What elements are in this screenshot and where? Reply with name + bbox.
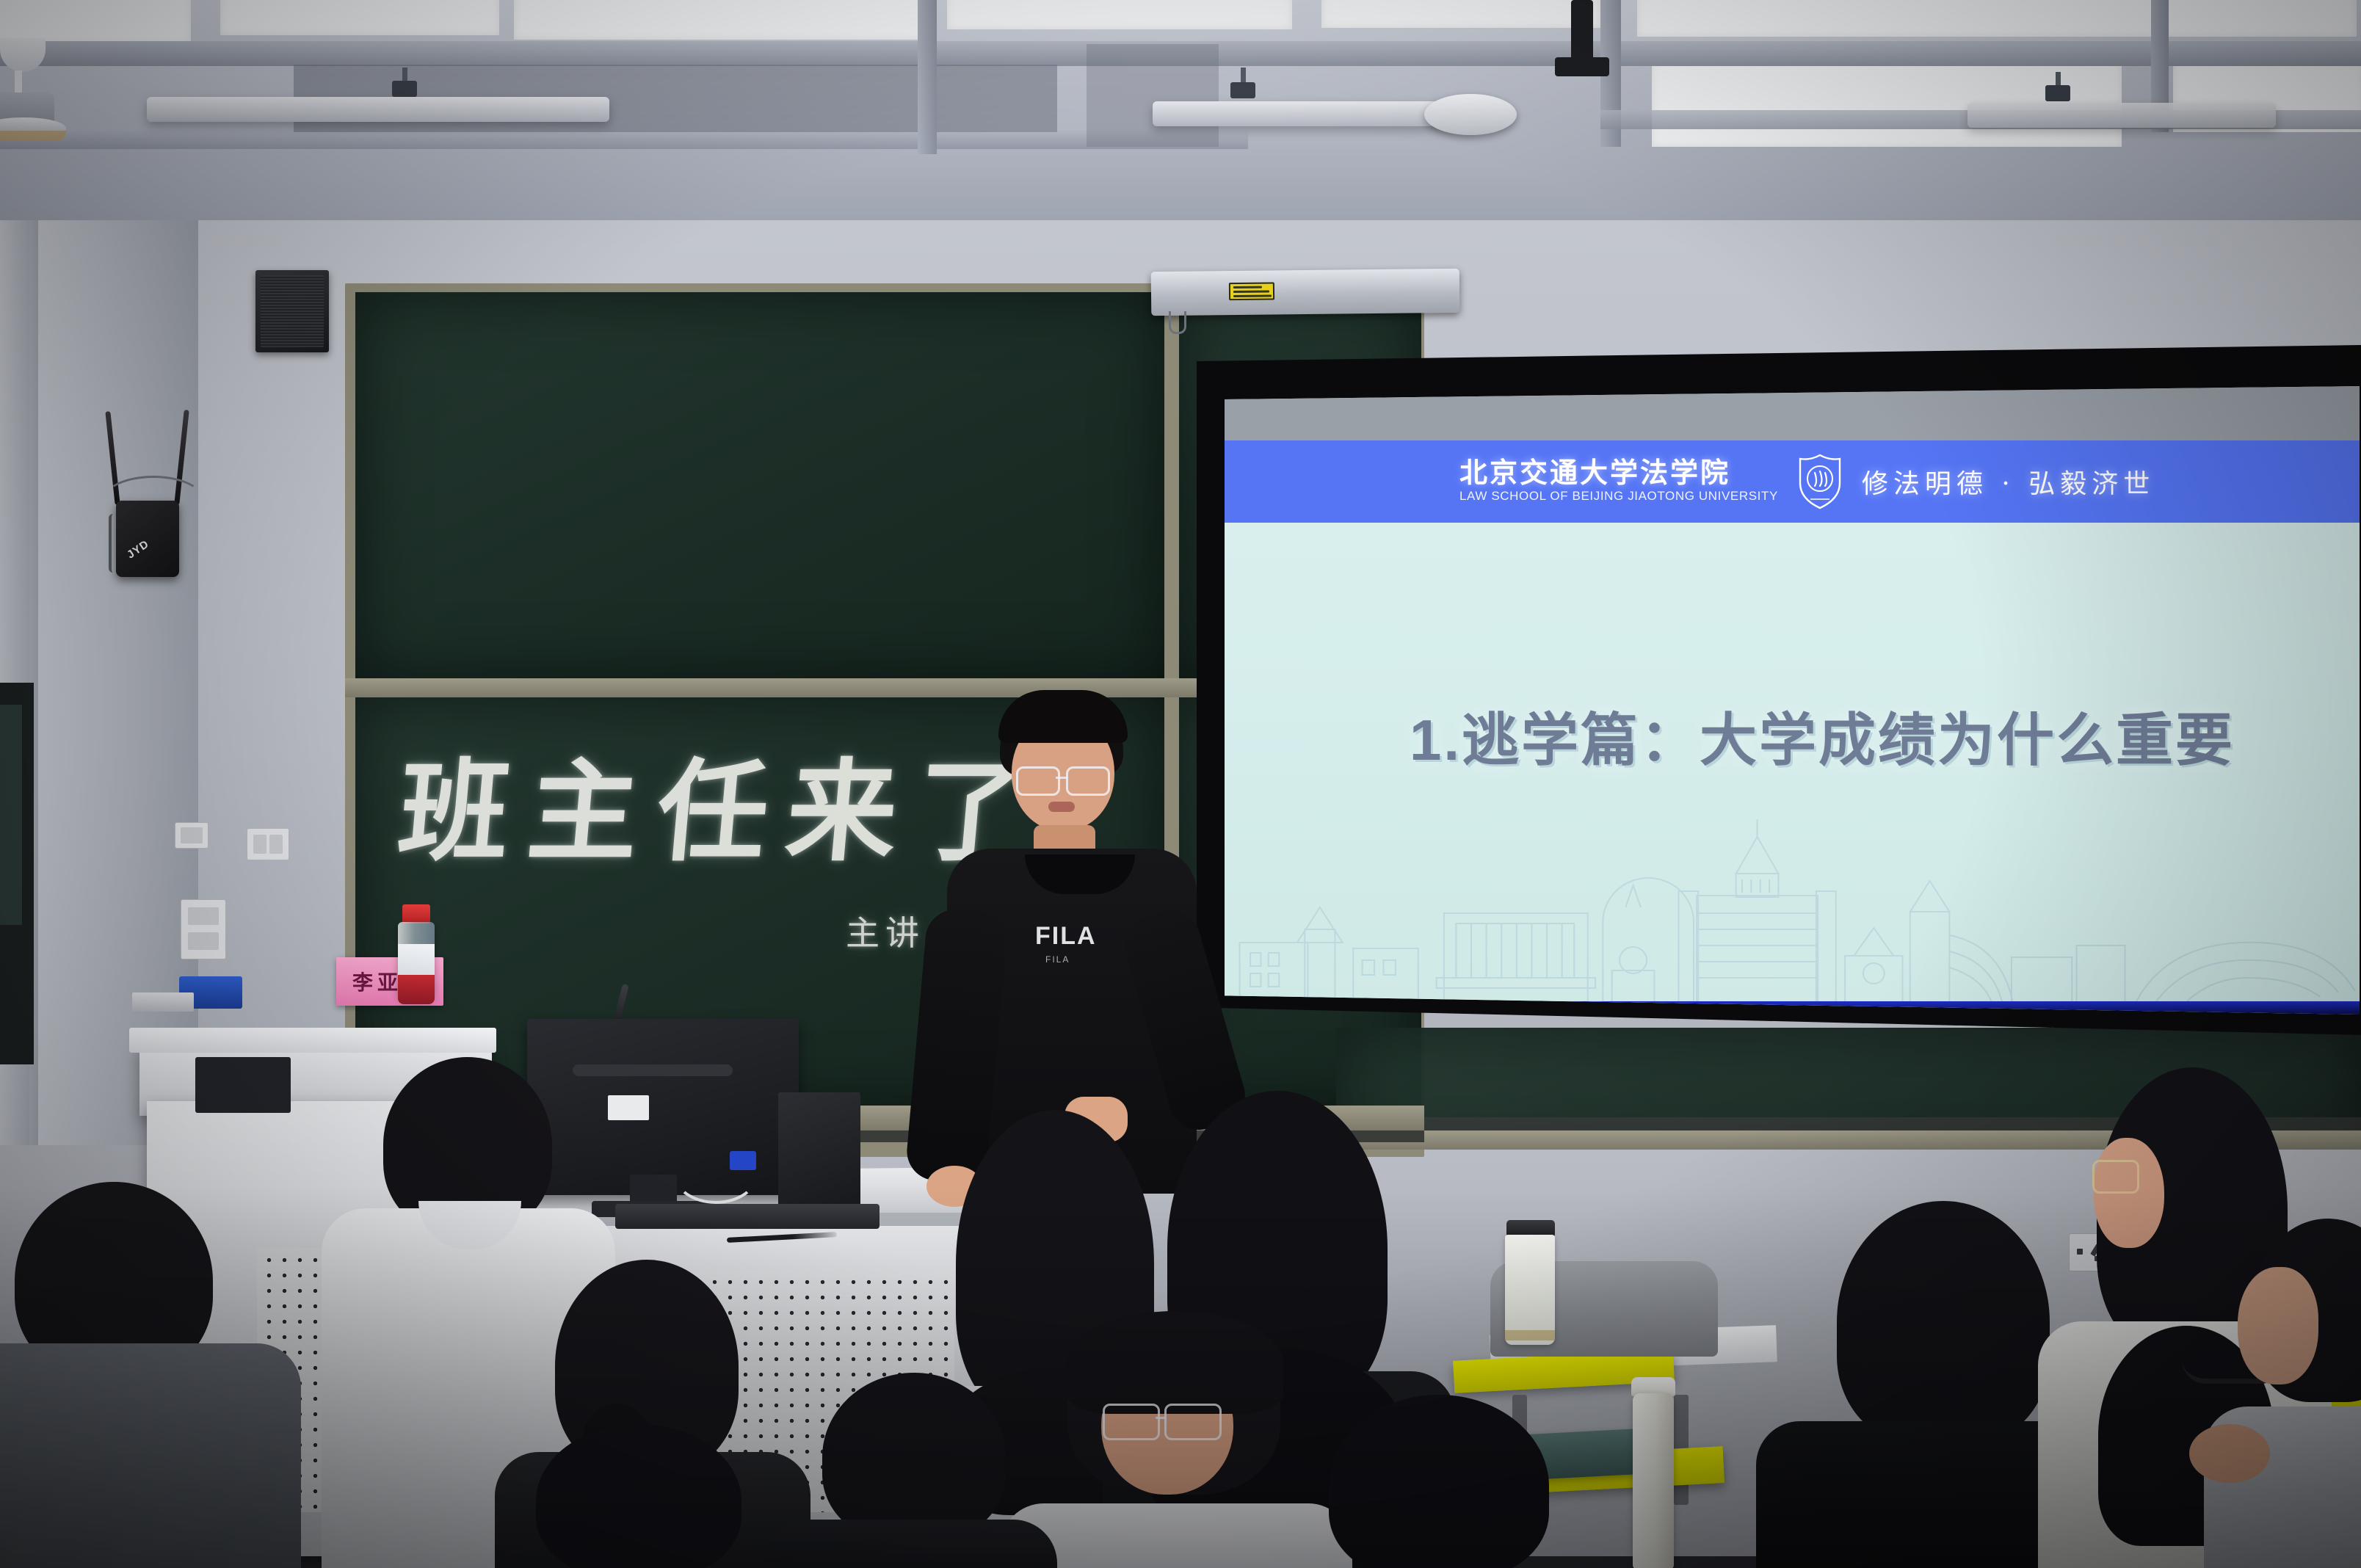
smoke-detector — [1424, 94, 1517, 135]
light-clip — [1230, 82, 1255, 98]
projection-screen-housing[interactable] — [1151, 269, 1460, 316]
router-brand-label: JYD — [125, 537, 151, 561]
glasses-left-lens-icon — [1016, 766, 1060, 796]
ceiling-light-panel — [947, 0, 1292, 29]
control-panel-plate — [181, 899, 226, 959]
ceiling-light-panel — [1321, 0, 1600, 28]
student-front-left-4 — [778, 1373, 1042, 1568]
speaker-grill — [261, 275, 324, 347]
student-hair-top — [1066, 1311, 1283, 1414]
student-top — [0, 1343, 301, 1568]
grey-device-box — [132, 992, 194, 1012]
ceiling-light-panel — [514, 0, 925, 40]
light-clip — [2045, 85, 2070, 101]
slide-header-brand: 北京交通大学法学院 LAW SCHOOL OF BEIJING JIAOTONG… — [1459, 454, 2155, 509]
thermos — [1633, 1393, 1674, 1568]
institution-name-cn: 北京交通大学法学院 — [1459, 460, 1778, 489]
coffee-cup — [1505, 1235, 1555, 1345]
slide-title: 1.逃学篇：大学成绩为什么重要 — [1410, 694, 2235, 777]
chalkboard-upper-panel — [355, 292, 1164, 681]
ceiling-light-panel — [220, 0, 499, 35]
student-hair — [822, 1373, 1006, 1542]
bottle-label — [398, 944, 435, 975]
glasses-left-lens-icon — [1103, 1404, 1160, 1440]
city-skyline-watermark — [1225, 819, 2360, 1003]
presenter-hair-top — [998, 690, 1128, 743]
router-power-cable — [109, 514, 122, 573]
ceiling-fan-blade — [0, 131, 66, 141]
light-clip — [392, 81, 417, 97]
presenter-mouth — [1048, 802, 1075, 812]
wall-speaker — [255, 270, 329, 352]
student-front-left-5 — [485, 1424, 793, 1568]
bottle-cap — [402, 904, 430, 923]
keyboard[interactable] — [615, 1204, 880, 1229]
student-front-left-1 — [0, 1182, 279, 1568]
law-school-crest-icon — [1797, 454, 1843, 509]
glasses-right-lens-icon — [1164, 1404, 1222, 1440]
equipment-box — [195, 1057, 291, 1113]
door-glass — [0, 705, 22, 925]
bottle-lower-body — [398, 975, 435, 1004]
classroom-scene: JYD 班主任来了 主讲人： — [0, 0, 2361, 1568]
vga-cable — [672, 1141, 759, 1204]
institution-name-en: LAW SCHOOL OF BEIJING JIAOTONG UNIVERSIT… — [1459, 489, 1778, 504]
glasses-bridge — [1056, 777, 1067, 779]
ceiling-light-panel — [1637, 0, 2357, 37]
light-switch-plate — [175, 822, 208, 849]
student-top — [764, 1520, 1057, 1568]
student-hair — [1329, 1395, 1549, 1568]
hoodie-brand-logo: FILA — [1035, 922, 1097, 951]
projector-mount-bracket — [1555, 57, 1609, 76]
hoodie-brand-sublabel: FILA — [1045, 954, 1070, 965]
projection-screen[interactable]: 北京交通大学法学院 LAW SCHOOL OF BEIJING JIAOTONG… — [1197, 345, 2361, 1035]
student-right-3 — [2233, 1219, 2361, 1568]
podium-shelf-edge — [129, 1028, 496, 1053]
glasses-bridge — [1156, 1417, 1166, 1419]
monitor-label-sticker — [608, 1095, 649, 1120]
slide-motto: 修法明德 · 弘毅济世 — [1862, 462, 2155, 501]
ceiling-beam — [918, 0, 937, 154]
glasses-lens-icon — [2092, 1160, 2139, 1194]
student-center-4 — [1285, 1395, 1593, 1568]
student-hand — [2189, 1424, 2270, 1483]
fluorescent-tube-light — [147, 97, 609, 122]
student-hair — [1837, 1201, 2050, 1443]
glasses-right-lens-icon — [1066, 766, 1110, 796]
light-hanger — [2056, 72, 2061, 87]
screen-hook — [1169, 311, 1186, 334]
light-switch-plate — [247, 828, 289, 860]
student-face — [2238, 1267, 2318, 1384]
student-hair — [536, 1424, 741, 1568]
cup-base-ring — [1505, 1330, 1555, 1340]
institution-block: 北京交通大学法学院 LAW SCHOOL OF BEIJING JIAOTONG… — [1459, 460, 1778, 504]
wireless-router: JYD — [116, 501, 179, 577]
projector-screen-warning-label — [1229, 282, 1274, 300]
presentation-slide: 北京交通大学法学院 LAW SCHOOL OF BEIJING JIAOTONG… — [1225, 386, 2360, 1015]
fluorescent-tube-light — [1968, 103, 2276, 128]
ceiling-recess — [1087, 44, 1219, 147]
ceiling-light-panel — [0, 0, 191, 44]
